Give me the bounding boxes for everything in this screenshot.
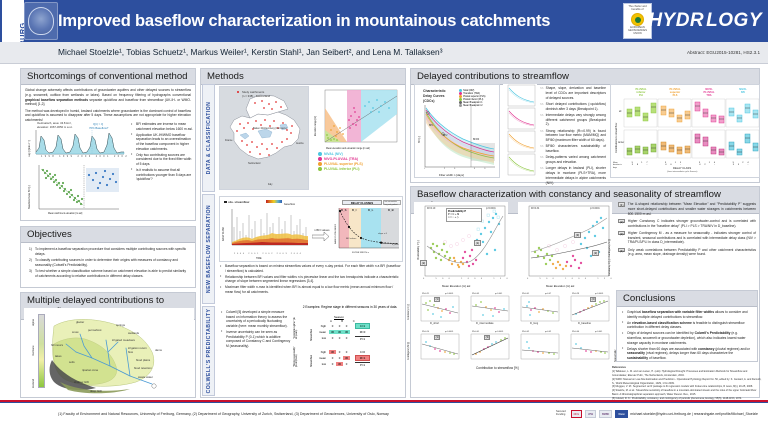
cell: 0: [329, 362, 336, 366]
small-panel-svg: [514, 330, 562, 364]
legend-swatch-tra: [318, 157, 322, 161]
delayed-note: Longer delays in lowland (PLI), shorter …: [546, 166, 606, 185]
pred-xticks: 0 500 1000 1500 2000 2500: [423, 278, 508, 280]
finding-row: (1) The U-shaped relationship between "M…: [618, 202, 756, 216]
note-marker: >>: [540, 166, 544, 185]
cell: 30: [343, 330, 350, 334]
small-panel: R²=0.05 p<0.001 D_intermediate: [464, 292, 512, 326]
finding-text: Only weak correlations between Predictab…: [628, 248, 756, 258]
shortcomings-bullet: Application UK-IH/WMO baseflow separatio…: [131, 133, 194, 152]
durations-tra: 3 14 42 -: [692, 162, 726, 166]
delay-classes-xlabel: FILTER WIDTH n: [352, 252, 369, 254]
figure-cdc: Characteristic Delay Curves (CDCs) BP1: [414, 84, 500, 178]
note-marker: >>: [540, 155, 544, 165]
catchment-label-lakes: lakes: [55, 354, 62, 358]
conclusions-title: Conclusions: [617, 291, 757, 307]
methods-tab-colwells-predictability[interactable]: COLWELL'S PREDICTABILITY: [202, 306, 215, 396]
finding-number: (3): [618, 231, 625, 236]
cdc-legend-label: Pluvial inferior (PLI): [463, 99, 483, 101]
catchment-label-flood-retention: flood retention: [134, 366, 152, 370]
row-label: low: [316, 336, 326, 340]
classification-xlabel: Mean elevation and elevation range [m as…: [326, 148, 370, 150]
shortcomings-bullet: BFI estimates are inverse to mean catchm…: [131, 122, 194, 131]
delay-class-label-db: D_B: [388, 208, 394, 212]
cell: 0: [343, 324, 350, 328]
small-panel-p: p<0.001: [595, 331, 602, 333]
catchment-label-flood-plains: flood plains: [136, 358, 150, 362]
small-panel: R²=0.28 p<0.0001 (2) D_baseline: [564, 292, 612, 326]
delay-classes-chart: DELAY CLASSES first intermediate long an…: [332, 200, 402, 260]
catchment-label-irrigation-return: irrigation return flow: [128, 346, 150, 354]
colwell-table2-case-label: "Strong seasonality" (in all years): [294, 345, 298, 367]
objectives-title: Objectives: [21, 227, 195, 243]
cdc-mini-svg: [503, 84, 537, 178]
hydrograph-xlabel: 1998 1999 2000 2001 2002: [41, 156, 129, 158]
cell: 30: [329, 350, 336, 354]
small-panel-svg: [464, 292, 512, 326]
catchment-label-dams: dams: [155, 348, 162, 352]
cdc-xticks: 1 20 40 60 80: [424, 168, 500, 170]
small-panel-r2: R²=0.14: [422, 331, 429, 333]
egu-badge-bottom: EUROPEAN GEOSCIENCES UNION: [624, 27, 651, 36]
footer-affiliations: (1) Faculty of Environment and Natural R…: [58, 412, 389, 416]
pred-p: p<0.0001: [486, 208, 496, 210]
small-panel-r2: R²=0.21: [422, 293, 429, 295]
finding-number: (1): [618, 202, 625, 207]
cdc-legend-label: Mean Breakpoint 2: [463, 105, 482, 107]
arrow-icon: [312, 231, 330, 241]
obs-legend-swatch: [224, 201, 227, 204]
catchment-label-glacier: glacier: [76, 320, 84, 324]
delayed-note: Strong relationship (R²=0.99) is found b…: [546, 129, 606, 143]
sponsor-logo-water: Water: [615, 410, 628, 418]
figure-constancy-contingency-elevation: R²=0.34 p<0.0001 (3) (2) Mean Elevation …: [518, 202, 612, 290]
delay-classes-header: DELAY CLASSES: [342, 200, 382, 205]
small-panel: R²=0.01 p=0.07 D_long: [514, 292, 562, 326]
pred-legend-box: Predictability P P = C + M □ = ○ + ◇: [446, 208, 482, 222]
cdc-annot-bp1: BP1: [429, 125, 433, 127]
conclusions-item: Origin of delayed sources can be identif…: [622, 331, 753, 345]
result-badge: M=0: [355, 330, 370, 334]
cell: 0: [336, 336, 343, 340]
cdc-legend: Nival (NIV) Transition (TRA) Pluvial sup…: [459, 89, 499, 107]
catchment-label-deep-gw: deep GW: [90, 389, 102, 393]
note-marker: >>: [540, 129, 544, 143]
row-label: mean: [316, 330, 326, 334]
cdc-legend-label: Pluvial superior (PLS): [463, 96, 485, 98]
small-panel-r2: R²=0.01: [522, 293, 529, 295]
figure-classification-scatter: Elevation range [m] Mean elevation and e…: [312, 86, 402, 158]
cell: 0: [336, 324, 343, 328]
panel-multiple-delayed: Multiple delayed contributions to stream…: [20, 292, 196, 398]
small-panel-svg: [564, 292, 612, 326]
small-panels-grid: R²=0.21 p<0.0001 (1) D_short R²=0.05 p<0…: [414, 292, 614, 374]
legend-entry: PLUVIAL inferior (PLI): [318, 167, 404, 171]
small-panel-annot: (3): [484, 335, 490, 340]
figure-catchment-diagram: alpine montane lowland: [24, 308, 194, 396]
cdc-xlabel: Filter width n [days]: [439, 173, 464, 177]
small-panel-label: D_short: [430, 322, 439, 325]
delayed-note: Intermediate delays vary strongly among …: [546, 113, 606, 127]
legend-entry: PLUVIAL superior (PLS): [318, 162, 404, 166]
cell: 0: [343, 336, 350, 340]
separation-xlabel: TIME: [256, 258, 262, 260]
small-panels-xlabel: Contribution to streamflow [%]: [476, 366, 519, 370]
result-badge: C=1: [355, 323, 370, 329]
const-ylabel: Constancy C [-] / Contingency M [-]: [608, 239, 611, 276]
classification-ylabel: Elevation range [m]: [315, 116, 317, 136]
objectives-item: To classify contributing sources in orde…: [29, 258, 189, 267]
small-panel: R²=0.41 p<0.0001 (3): [464, 330, 512, 364]
methods-tab-baseflow-separation[interactable]: NEW BASEFLOW SEPARATION: [202, 194, 215, 304]
finding-row: (2) Higher Constancy C indicates stronge…: [618, 219, 756, 229]
sponsor-logos: Secured Funding DFG WW BMBF Water: [556, 408, 628, 420]
footer-band: [0, 403, 768, 431]
cell: 0: [336, 356, 343, 360]
separation-legend-bf: baseflow: [284, 202, 295, 206]
cell: 0: [329, 356, 336, 360]
finding-text: The U-shaped relationship between "Mean …: [628, 202, 756, 216]
separation-legend-obs: obs. streamflow: [228, 200, 249, 204]
const-annot-3: (3): [574, 232, 581, 238]
cdc-ylabel: BFI [-]: [418, 136, 421, 143]
boxplot-row2-label: winter: [618, 142, 624, 144]
small-panel-svg: [514, 292, 562, 326]
sponsor-logo-ww: WW: [585, 410, 596, 418]
sponsor-logo-bmbf: BMBF: [599, 410, 612, 418]
university-seal-logo: [24, 2, 58, 40]
legend-swatch-pli: [318, 167, 322, 171]
map-label-france: France: [225, 139, 232, 142]
small-panel-p: p<0.0001: [445, 293, 453, 295]
small-panel-p: p=0.02: [545, 331, 551, 333]
finding-row: (4) Only weak correlations between Predi…: [618, 248, 756, 258]
colwell-table-2: high 30 0 0 C=0 mean 0 0 30 M=1 low 0 30…: [316, 349, 370, 367]
reference-item: [1] Tallaksen, L. M. and van Lanen, H. (…: [612, 370, 762, 378]
cell: 30: [343, 356, 350, 360]
small-panel-r2: R²=0.05: [472, 293, 479, 295]
objectives-item: To implement a baseflow separation proce…: [29, 247, 189, 256]
cell: 30: [336, 330, 343, 334]
catchment-label-irrigated-meadows: irrigated meadows: [112, 338, 135, 342]
small-panel-annot: (1): [434, 335, 440, 340]
legend-entry: NIVO-PLUVIAL (TRA): [318, 157, 404, 161]
methods-tab-label: DATA & CLASSIFICATION: [206, 102, 212, 175]
egu-badge-top: The charter and benefits of: [624, 6, 651, 12]
conclusions-item: An elevation-based classification scheme…: [622, 321, 753, 330]
small-panel-r2: R²=0.28: [572, 293, 579, 295]
egu-logo-icon: [631, 13, 644, 26]
reference-item: [4] Stoelzle, M. et al.: Streamflow sens…: [612, 389, 762, 397]
sponsor-logo-dfg: DFG: [571, 410, 582, 418]
catchment-label-riparian-zone: riparian zone: [82, 368, 98, 372]
shortcomings-title: Shortcomings of conventional method: [21, 69, 195, 85]
poster-root: UNI FREIBURG Improved baseflow character…: [0, 0, 768, 431]
map-legend-marker-icon: [237, 91, 239, 93]
hydro-logo-part1: HYDR: [648, 10, 704, 32]
colwell-example-title: 2 Examples: Regime stage in different se…: [296, 305, 404, 309]
figure-cdc-mini-panels: [503, 84, 537, 178]
funding-label: Secured Funding: [556, 411, 566, 417]
separation-bullets: Baseflow separation is based on minima s…: [220, 264, 402, 296]
classification-legend: NIVAL (NIV) NIVO-PLUVIAL (TRA) PLUVIAL s…: [318, 152, 404, 171]
row-label: high: [316, 350, 326, 354]
boxplot-xsublabel: (from intermediate cyclic flowers): [667, 171, 697, 173]
hydrology-logo: HYDR LOGY: [658, 4, 762, 38]
separation-hydrograph-svg: [226, 207, 314, 255]
figure-hydrograph: Oedmatsch, area: 43.8 km², elevation: 16…: [25, 121, 129, 161]
small-panel-annot: (2): [590, 297, 596, 302]
small-panel-annot: (1): [434, 297, 440, 302]
colwell-table1-ylabel: Streamflow: [310, 329, 313, 341]
figure-boxplot-matrix: Contributions to streamflow PLUVIAL infe…: [610, 84, 760, 178]
author-list: Michael Stoelzle¹, Tobias Schuetz¹, Mark…: [58, 47, 578, 57]
pred-r2: R²=0.19: [427, 208, 435, 210]
boxplot-xlabel: DELAY CLASS: [673, 167, 691, 170]
delayed-contributions-title: Delayed contributions to streamflow: [411, 69, 759, 85]
delay-class-label-ds: D_S: [341, 208, 346, 212]
small-panel: R²=0.06 p<0.001: [564, 330, 612, 364]
result-badge: C=0: [355, 350, 370, 354]
const-xlabel: Mean Elevation [m] asl: [546, 284, 574, 288]
const-p: p<0.0001: [590, 208, 600, 210]
boxplot-duration-row: 3 17 38 - 3 15 40 - 3 14 42 - 3 24 39 -: [625, 162, 759, 166]
methods-title: Methods: [201, 69, 405, 85]
table-row: low 0 0 0 P=1: [316, 335, 370, 341]
cell: 30: [336, 362, 343, 366]
pred-legend-sym: □ = ○ + ◇: [448, 216, 480, 219]
colwell-table2-ylabel: Streamflow: [310, 355, 313, 367]
const-r2: R²=0.34: [531, 208, 539, 210]
result-badge: P=1: [355, 336, 370, 341]
methods-tab-label: COLWELL'S PREDICTABILITY: [206, 309, 212, 394]
legend-label-niv: NIVAL (NIV): [324, 152, 343, 156]
reference-item: [2] WMO: Manual on Low-flow Estimation a…: [612, 378, 762, 386]
catchment-label-wetlands: wetlands: [128, 331, 139, 335]
panel-objectives: Objectives To implement a baseflow separ…: [20, 226, 196, 288]
pred-annot-1: (1): [474, 240, 481, 246]
small-panel-label: D_intermediate: [476, 322, 494, 325]
catchment-label-shallow-gw: shallow GW: [74, 380, 89, 384]
delayed-notes: >>Shape, slope, derivation and baseline …: [540, 86, 606, 186]
abstract-id: Abstract: EGU2015-10281, HS2.3.1: [687, 50, 760, 55]
cdc-legend-label: Mean Breakpoint 1: [463, 102, 482, 104]
delay-classes-ylabel: BASE FLOW INDEX: [335, 224, 337, 244]
catchment-label-permafrost: permafrost: [88, 328, 101, 332]
delay-bfi-note: BFI values: [346, 238, 356, 240]
colwell-table1-case-label: "Constant regime" (in all years): [294, 317, 298, 339]
references-title: References: [612, 366, 762, 370]
small-panel-p: p<0.0001: [445, 331, 453, 333]
delayed-note: BFI60 characterizes sustainability of ba…: [546, 144, 606, 154]
legend-label-pli: PLUVIAL inferior (PLI): [324, 167, 360, 171]
legend-label-tra: NIVO-PLUVIAL (TRA): [324, 157, 358, 161]
result-badge: M=1: [355, 355, 370, 361]
seal-icon: [28, 7, 54, 35]
colwell-bullets: Colwell [5] developed a simple measure b…: [221, 310, 293, 350]
note-marker: >>: [540, 102, 544, 112]
delay-slope-note: slope = 0: [378, 233, 387, 235]
hydrograph-svg: [25, 121, 129, 161]
bfi-scatter-svg: [26, 162, 126, 218]
funding-label-2: Funding: [556, 413, 565, 416]
legend-swatch-niv: [318, 152, 322, 156]
cell: 0: [343, 350, 350, 354]
map-legend-sublabel: (n = 338) - Switzerland: [242, 94, 270, 98]
delay-class-label-dl: D_L: [368, 208, 373, 212]
cdc-legend-swatch-bp2: [459, 104, 462, 107]
delayed-note: Delay-patterns varied among catchment gr…: [546, 155, 606, 165]
catchment-label-springs: springs: [116, 323, 125, 327]
separation-xticks: 2000 2001 2002 2003 2004: [234, 253, 303, 255]
separation-bullet: Maximum filter width n-max is identified…: [220, 285, 402, 294]
small-panel: R²=0.14 p<0.0001 (1): [414, 330, 462, 364]
durations-niv: 3 24 39 -: [726, 162, 759, 166]
shortcomings-para-1: Global change adversely affects contribu…: [25, 88, 191, 107]
small-panel-p: p<0.0001: [595, 293, 603, 295]
table-row: low 0 30 0 P=1: [316, 361, 370, 367]
cdc-annot-bp2: BP2: [443, 135, 447, 137]
panel-conclusions: Conclusions Graphical baseflow separatio…: [616, 290, 758, 362]
baseflow-colorbar: [266, 200, 282, 203]
note-marker: >>: [540, 144, 544, 154]
delayed-note: Shape, slope, derivation and baseline le…: [546, 86, 606, 100]
delay-classes-svg: [332, 206, 402, 258]
map-label-italy: Italy: [268, 183, 272, 186]
shortcomings-bullet: Only two contributing sources are consid…: [131, 153, 194, 167]
small-panels-ylabel-r2: Contingency M [-]: [408, 342, 410, 360]
map-label-austria: Austria: [296, 142, 303, 145]
row-label: low: [316, 362, 326, 366]
const-annot-2: (2): [592, 250, 599, 256]
colwell-table-1: high 0 0 0 C=1 mean 30 30 30 M=0 low 0 0…: [316, 323, 370, 341]
small-panel-r2: R²=0.41: [472, 331, 479, 333]
small-panel-p: p=0.07: [545, 293, 551, 295]
finding-number: (2): [618, 219, 625, 224]
conclusions-list: Graphical baseflow separation with varia…: [617, 307, 757, 361]
note-marker: >>: [540, 113, 544, 127]
footer-contact: michael.stoelzle@hydro.uni-freiburg.de |…: [630, 412, 758, 416]
delay-classes-subheader: first intermediate long and gradient: [383, 200, 401, 205]
methods-tab-data-classification[interactable]: DATA & CLASSIFICATION: [202, 84, 215, 192]
pred-ylabel: Predictability P [-]: [417, 241, 420, 260]
finding-text: Higher Constancy C indicates stronger gr…: [628, 219, 756, 229]
delay-nmax-label: n_max: [392, 244, 399, 246]
pred-annot-2: (2): [420, 260, 427, 266]
colwell-bullet: Inverse uncertainty can be seen as Predi…: [221, 330, 293, 349]
catchment-label-waste-water: waste water: [138, 375, 153, 379]
finding-number: (4): [618, 248, 625, 253]
small-panel: R²=0.21 p<0.0001 (1) D_short: [414, 292, 462, 326]
hydro-logo-part2: LOGY: [706, 10, 762, 32]
cell: 0: [329, 336, 336, 340]
cdc-annot-bfi60: BFI60: [473, 139, 479, 141]
note-marker: >>: [540, 86, 544, 100]
shortcomings-bullet: Is it realistic to assume that all contr…: [131, 168, 194, 182]
cell: 0: [343, 362, 350, 366]
conclusions-item: Delays shorter than 60 days are associat…: [622, 347, 753, 361]
cell: 0: [336, 350, 343, 354]
separation-ylabel: DAILY FLOW: [223, 227, 225, 241]
small-panel-svg: [564, 330, 612, 364]
figure-bfi-scatter: Baseflow Index BFI [-]: [26, 162, 126, 218]
small-panel-r2: R²=0.02: [522, 331, 529, 333]
methods-tab-label: NEW BASEFLOW SEPARATION: [206, 205, 212, 293]
figure-predictability-elevation: Predictability P P = C + M □ = ○ + ◇ R²=…: [414, 202, 508, 290]
shortcomings-bullets: BFI estimates are inverse to mean catchm…: [131, 122, 194, 183]
colwell-bullet: Colwell [5] developed a simple measure b…: [221, 310, 293, 329]
durations-pli: 3 17 38 -: [625, 162, 658, 166]
small-panel-r2: R²=0.06: [572, 331, 579, 333]
small-panel-p: p<0.001: [495, 293, 502, 295]
const-xticks: 0 500 1000 1500 2000 2500: [527, 278, 612, 280]
boxplot-row1-label: all: [619, 111, 621, 113]
cell: 30: [329, 330, 336, 334]
small-panel-label: D_long: [530, 322, 538, 325]
page-title: Improved baseflow characterization in mo…: [58, 8, 618, 34]
durations-pls: 3 15 40 -: [658, 162, 692, 166]
small-panel-p: p<0.0001: [495, 331, 503, 333]
const-cont-svg: [518, 202, 612, 290]
row-label: mean: [316, 356, 326, 360]
hydrograph-legend-2: 70% Baseflow?: [89, 126, 108, 130]
catchment-label-soils: soils: [69, 360, 75, 364]
small-panel-label: D_baseline: [578, 322, 591, 325]
row-label: high: [316, 324, 326, 328]
finding-text: Higher Contingency M - as a measure for …: [628, 231, 756, 245]
colwell-examples: 2 Examples: Regime stage in different se…: [296, 305, 404, 397]
delayed-note: Short delayed contributions (=quickflow)…: [546, 102, 606, 112]
result-badge: P=1: [355, 362, 370, 367]
panel-shortcomings: Shortcomings of conventional method Glob…: [20, 68, 196, 221]
catchment-svg: [24, 308, 194, 396]
delay-class-label-di: D_I: [352, 208, 356, 212]
catchment-label-hill-moors: hill moors: [51, 343, 63, 347]
legend-swatch-pls: [318, 162, 322, 166]
cdc-legend-label: Transition (TRA): [463, 93, 480, 95]
pred-xlabel: Mean Elevation [m] asl: [442, 284, 470, 288]
objectives-list: To implement a baseflow separation proce…: [21, 243, 195, 278]
separation-bullet: Relationship between BFI values and filt…: [220, 275, 402, 284]
separation-bullet: Baseflow separation is based on minima s…: [220, 264, 402, 273]
figure-baseflow-separation: obs. streamflow baseflow DAILY FLOW: [219, 196, 403, 262]
catchment-label-snow: snow: [72, 330, 79, 334]
objectives-item: To test whether a simple classification …: [29, 269, 189, 278]
map-label-switzerland: Switzerland: [248, 162, 260, 165]
bfi-scatter-xlabel: Mean catchment elevation [m asl]: [48, 213, 82, 215]
map-label-germany: Baden-Württemberg (Germany): [253, 127, 287, 130]
baseflow-findings: (1) The U-shaped relationship between "M…: [618, 202, 756, 257]
legend-label-pls: PLUVIAL superior (PLS): [324, 162, 363, 166]
finding-row: (3) Higher Contingency M - as a measure …: [618, 231, 756, 245]
legend-entry: NIVAL (NIV): [318, 152, 404, 156]
references-block: References [1] Tallaksen, L. M. and van …: [612, 366, 762, 400]
cell: 0: [329, 324, 336, 328]
conclusions-item: Graphical baseflow separation with varia…: [622, 310, 753, 319]
cdc-legend-label: Nival (NIV): [463, 90, 474, 92]
boxplot-delay-duration-label: Mean duration in days: [613, 162, 625, 169]
figure-study-map: Study catchments (n = 338) - Switzerland…: [219, 86, 309, 190]
map-svg: [220, 87, 309, 190]
small-panel: R²=0.02 p=0.02: [514, 330, 562, 364]
small-panels-ylabel-r1: Constancy C [-]: [408, 304, 410, 320]
